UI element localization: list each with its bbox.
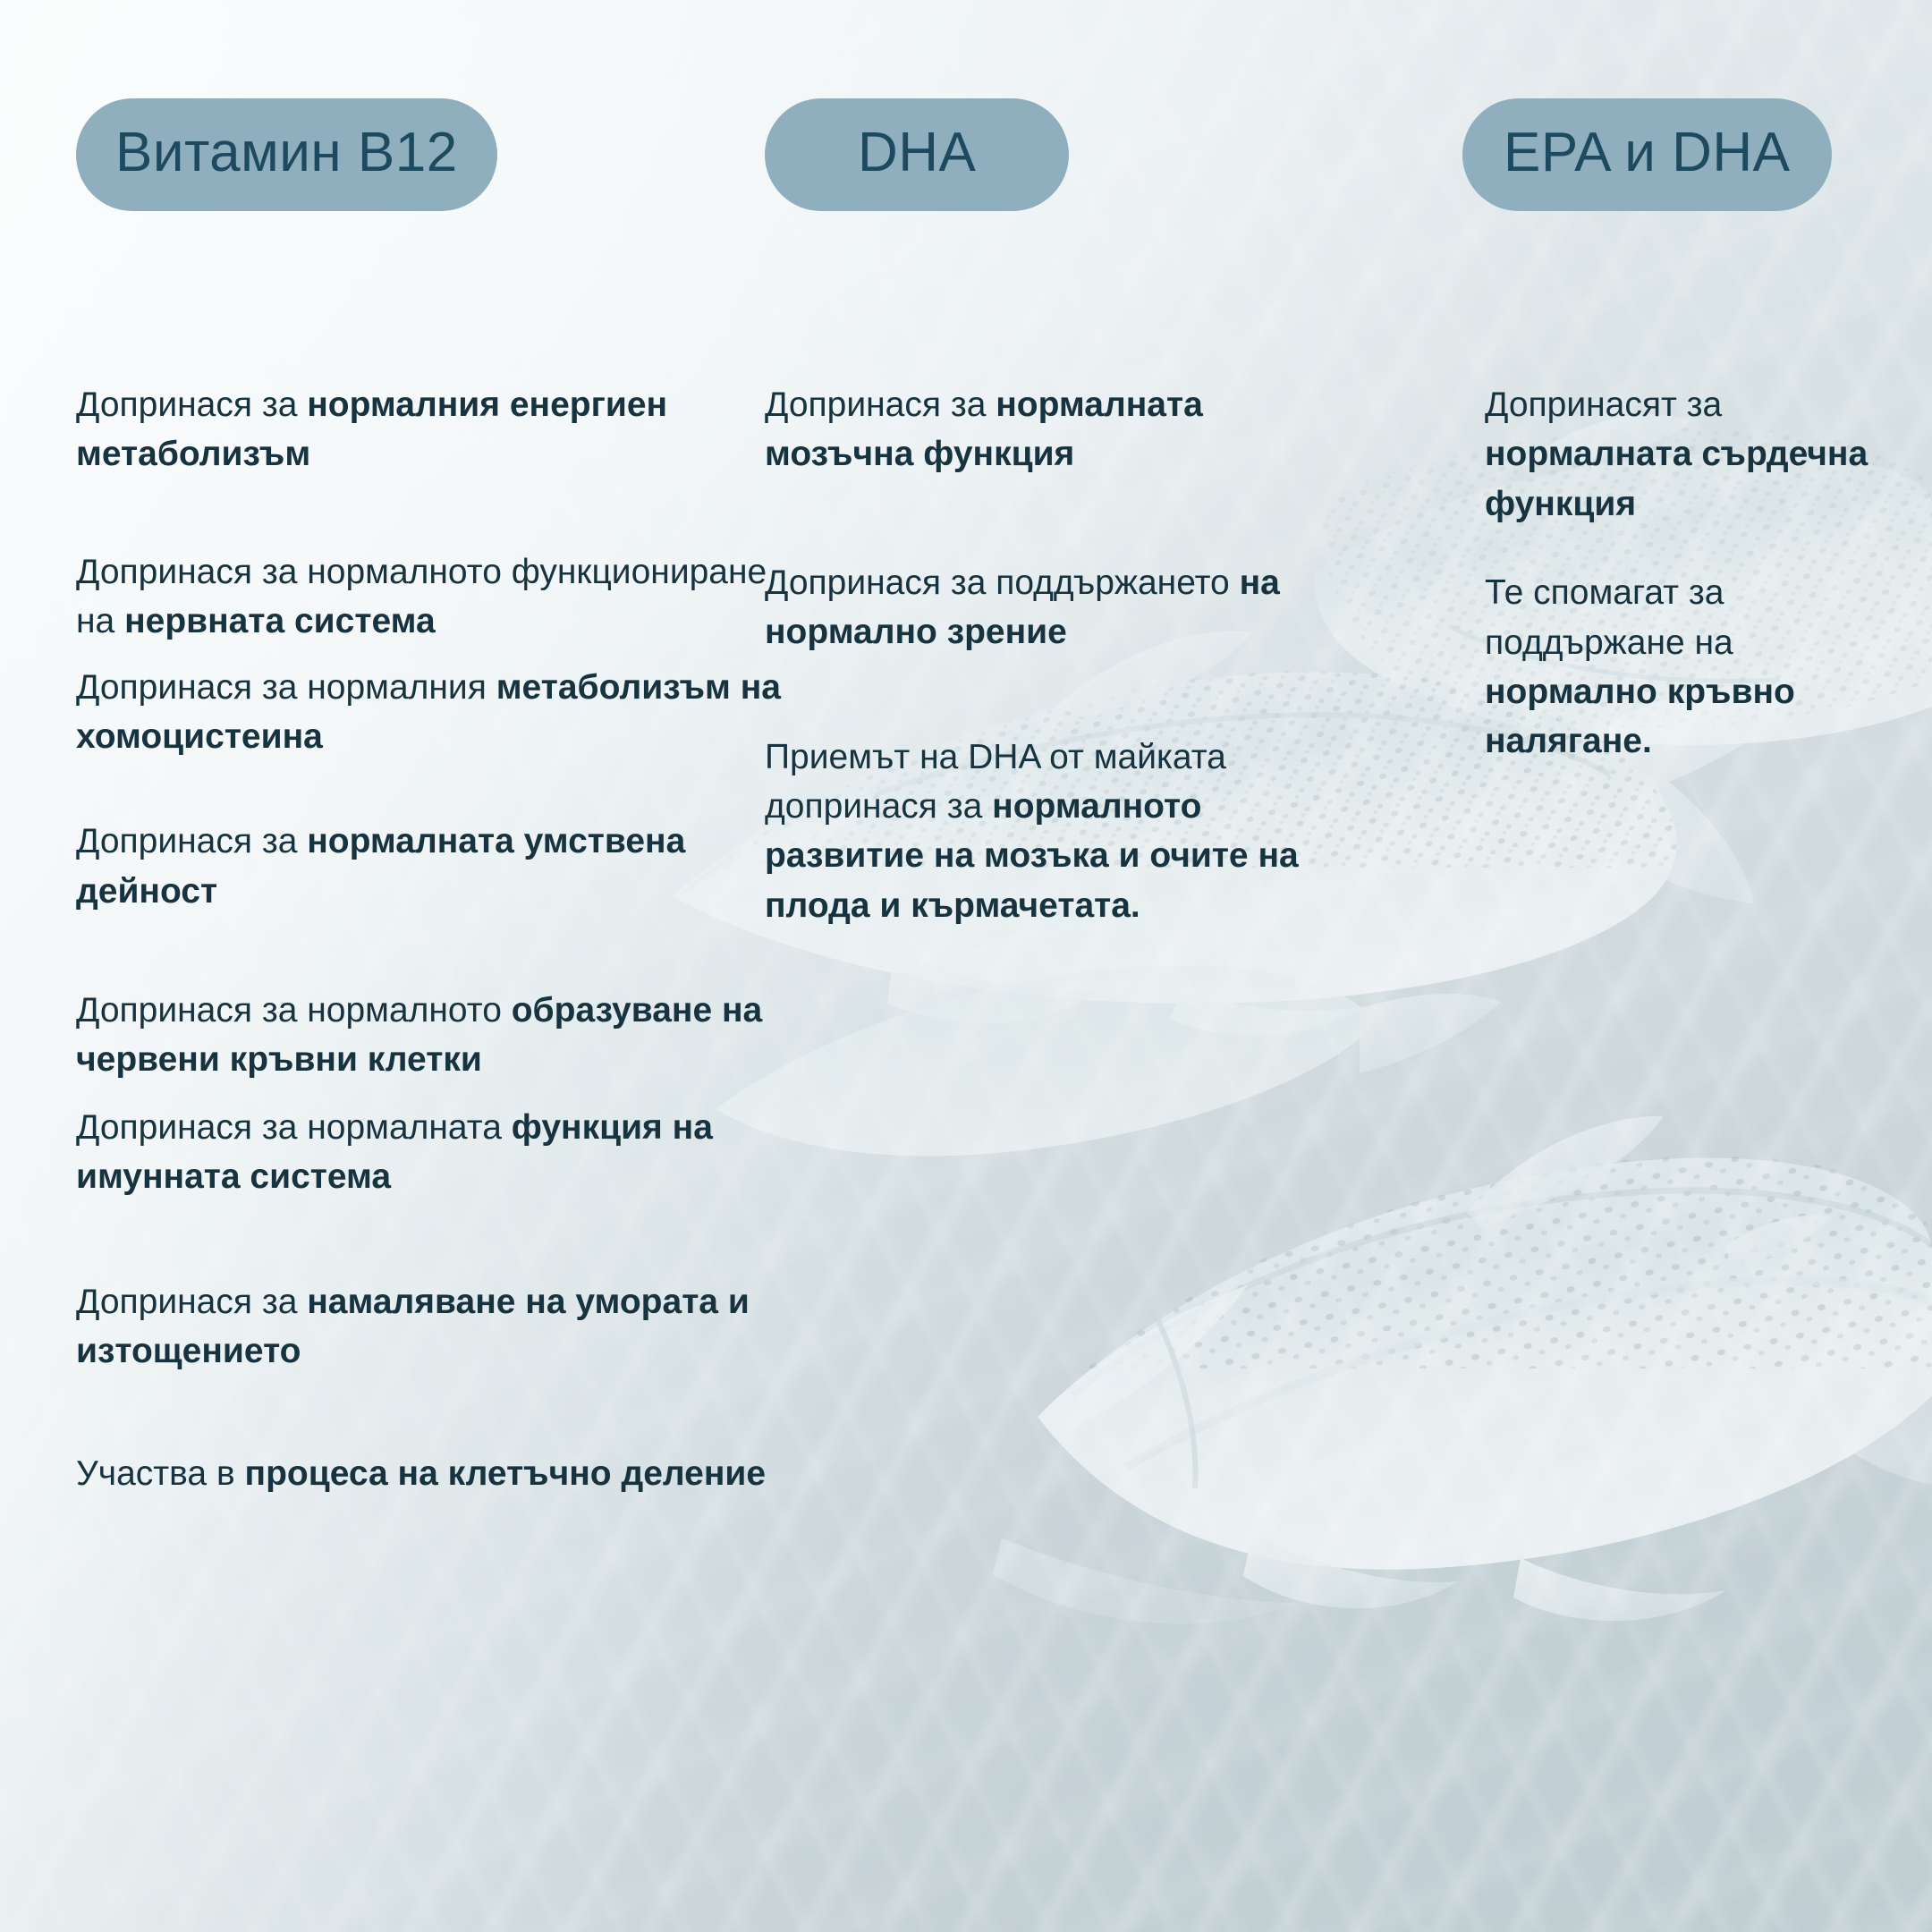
fact-item: Допринася за намаляване на умората и изт…: [76, 1277, 783, 1377]
fact-bold-text: процеса на клетъчно деление: [245, 1454, 767, 1493]
fact-light-text: Допринася за поддържането: [765, 563, 1240, 602]
heading-pill-dha: DHA: [765, 98, 1069, 211]
fact-bold-text: нормалната сърдечна функция: [1485, 435, 1868, 522]
fact-item: Допринася за нормалната функция на имунн…: [76, 1103, 783, 1202]
fact-item: Допринася за поддържането на нормално зр…: [765, 558, 1355, 657]
fact-light-text: Допринасят за: [1485, 386, 1722, 424]
fact-item: Допринася за нормалното функциониране на…: [76, 547, 783, 647]
heading-epa-dha-wrap: EPA и DHA: [1462, 98, 1832, 211]
infographic-page: Витамин B12 DHA EPA и DHA Допринася за н…: [0, 0, 1932, 1932]
fact-item: Допринася за нормалния метаболизъм на хо…: [76, 663, 783, 762]
fact-item: Приемът на DHA от майката допринася за н…: [765, 733, 1355, 931]
fact-item: Допринася за нормалната умствена дейност: [76, 817, 783, 916]
fact-item: Допринася за нормалното образуване на че…: [76, 986, 783, 1085]
fact-item: Допринасят за нормалната сърдечна функци…: [1485, 380, 1905, 529]
fact-light-text: Те спомагат за поддържане на: [1485, 573, 1733, 661]
fact-light-text: Допринася за: [765, 386, 996, 424]
fact-light-text: Участва в: [76, 1454, 245, 1493]
heading-vitamin-b12-wrap: Витамин B12: [76, 98, 497, 211]
facts-list-vitamin-b12: Допринася за нормалния енергиен метаболи…: [76, 380, 783, 1551]
fact-light-text: Допринася за нормалния: [76, 668, 496, 707]
fact-light-text: Допринася за: [76, 1283, 307, 1321]
heading-pill-vitamin-b12: Витамин B12: [76, 98, 497, 211]
heading-pill-epa-and-dha: EPA и DHA: [1462, 98, 1832, 211]
heading-dha-wrap: DHA: [765, 98, 1069, 211]
facts-list-dha: Допринася за нормалната мозъчна функция …: [765, 380, 1355, 982]
fact-bold-text: нормално кръвно налягане.: [1485, 673, 1795, 760]
facts-list-epa-and-dha: Допринасят за нормалната сърдечна функци…: [1485, 380, 1905, 804]
fact-light-text: Допринася за: [76, 822, 307, 860]
fact-light-text: Допринася за нормалното: [76, 991, 512, 1030]
fact-item: Допринася за нормалната мозъчна функция: [765, 380, 1355, 479]
fact-bold-text: нервната система: [124, 602, 436, 640]
fact-light-text: Допринася за: [76, 386, 307, 424]
fact-item: Допринася за нормалния енергиен метаболи…: [76, 380, 783, 479]
fact-item: Те спомагат за поддържане на нормално кр…: [1485, 568, 1905, 767]
fact-light-text: Допринася за нормалната: [76, 1108, 512, 1147]
fact-item: Участва в процеса на клетъчно деление: [76, 1449, 783, 1498]
